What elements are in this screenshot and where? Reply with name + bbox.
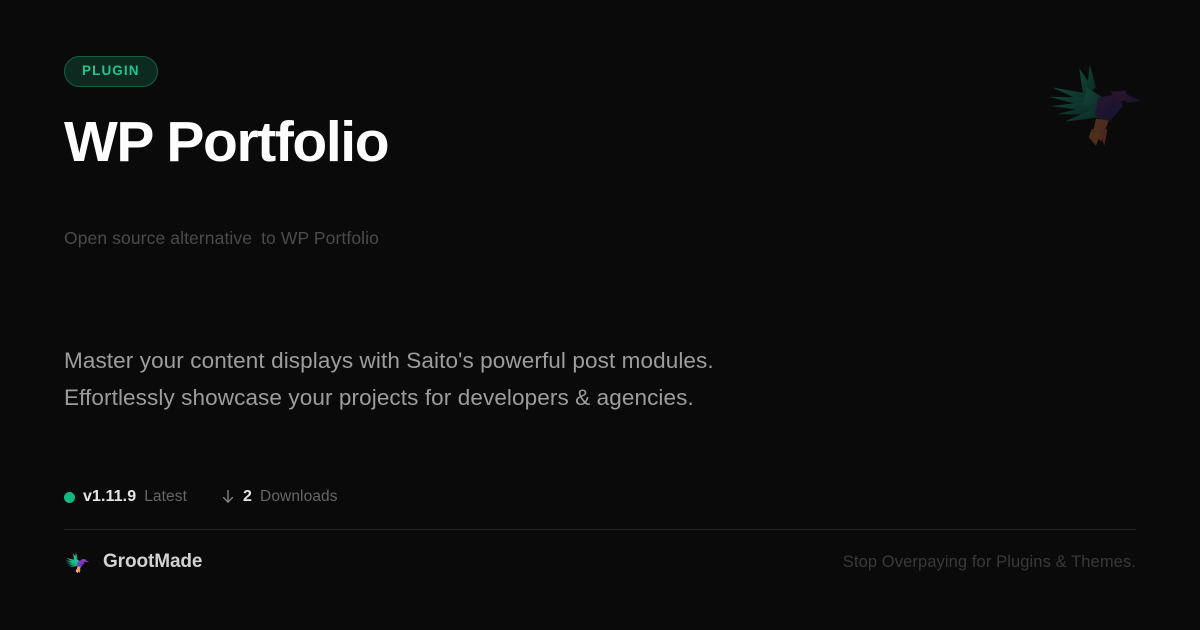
grootmade-bird-logo-icon (64, 549, 91, 576)
footer-brand: GrootMade (64, 549, 202, 576)
status-dot-icon (64, 492, 75, 503)
plugin-type-badge: PLUGIN (64, 56, 158, 87)
downloads-value: 2 (243, 489, 252, 505)
downloads-stat: 2 Downloads (221, 489, 338, 505)
footer-tagline: Stop Overpaying for Plugins & Themes. (843, 553, 1136, 572)
subtitle-prefix: Open source alternative (64, 228, 252, 248)
subtitle-suffix: to WP Portfolio (257, 228, 379, 248)
version-stat: v1.11.9 Latest (64, 489, 187, 505)
footer-divider (64, 529, 1136, 530)
footer: GrootMade Stop Overpaying for Plugins & … (64, 546, 1136, 578)
download-arrow-icon (221, 489, 235, 505)
badge-row: PLUGIN (64, 56, 158, 87)
version-label: Latest (144, 489, 187, 505)
grootmade-bird-watermark-icon (1044, 52, 1148, 156)
description-line-1: Master your content displays with Saito'… (64, 342, 714, 379)
og-card: PLUGIN WP Portfolio Open source alternat… (0, 0, 1200, 630)
version-value: v1.11.9 (83, 489, 136, 505)
page-description: Master your content displays with Saito'… (64, 342, 714, 416)
page-title: WP Portfolio (64, 112, 388, 174)
footer-brand-name: GrootMade (103, 551, 202, 573)
description-line-2: Effortlessly showcase your projects for … (64, 379, 714, 416)
page-subtitle: Open source alternative to WP Portfolio (64, 226, 379, 251)
downloads-label: Downloads (260, 489, 338, 505)
stats-row: v1.11.9 Latest 2 Downloads (64, 485, 338, 509)
